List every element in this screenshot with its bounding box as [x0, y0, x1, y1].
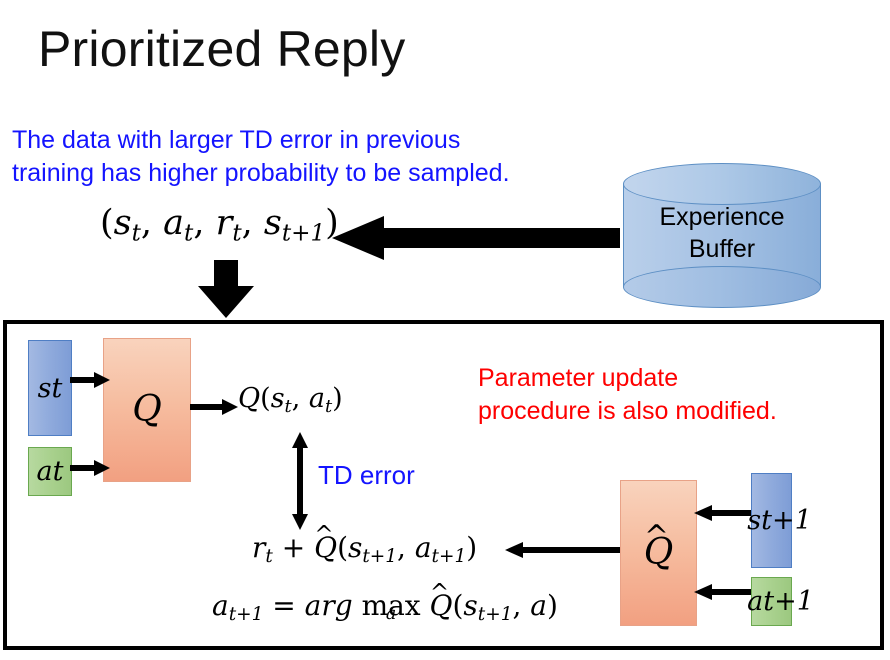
q-network-label: Q	[132, 392, 162, 428]
block-arrow-down-icon	[198, 260, 254, 318]
tuple-open-paren: (	[100, 203, 114, 243]
argmax-open-paren: (	[452, 589, 463, 622]
q-output-separator: ,	[292, 383, 309, 414]
tuple-action-subscript: t	[184, 220, 193, 246]
block-arrow-left-icon	[332, 216, 620, 260]
tuple-state-subscript: t	[132, 220, 141, 246]
q-output-state: s	[271, 383, 285, 414]
argmax-action: a	[212, 589, 229, 622]
state-input-label: st	[38, 375, 63, 402]
target-qhat-symbol: ^Q	[314, 534, 337, 562]
argmax-action-expression: at+1 = arg maxa ^Q(st+1, a)	[212, 592, 558, 625]
target-separator: ,	[397, 531, 415, 564]
target-next-action-subscript: t+1	[432, 546, 467, 567]
next-state-input-label: st+1	[747, 507, 812, 534]
red-note-text: Parameter update procedure is also modif…	[478, 362, 777, 428]
argmax-arg-keyword: arg	[305, 589, 353, 622]
next-action-input-label: at+1	[747, 588, 814, 615]
target-q-network-label: ^Q	[644, 535, 674, 571]
target-next-action: a	[415, 531, 432, 564]
target-next-state: s	[348, 531, 362, 564]
argmax-separator: ,	[512, 589, 530, 622]
tuple-comma-3: ,	[242, 203, 264, 243]
argmax-equals: =	[263, 589, 304, 622]
action-input-block: at	[28, 447, 72, 496]
target-plus-sign: +	[273, 531, 314, 564]
tuple-reward: r	[216, 203, 233, 243]
tuple-next-state: s	[264, 203, 282, 243]
target-next-state-subscript: t+1	[362, 546, 397, 567]
blue-note-text: The data with larger TD error in previou…	[12, 124, 510, 189]
td-target-expression: rt + ^Q(st+1, at+1)	[252, 534, 477, 567]
target-reward-subscript: t	[265, 546, 272, 567]
tuple-comma-1: ,	[141, 203, 163, 243]
argmax-free-action: a	[530, 589, 547, 622]
page-title: Prioritized Reply	[38, 22, 405, 77]
tuple-action: a	[163, 203, 184, 243]
state-input-block: st	[28, 340, 72, 436]
next-action-input-block: at+1	[751, 577, 792, 626]
argmax-close-paren: )	[547, 589, 558, 622]
action-input-label: at	[37, 458, 64, 485]
experience-buffer-cylinder: Experience Buffer	[623, 163, 823, 308]
next-state-input-block: st+1	[751, 473, 792, 568]
tuple-next-state-subscript: t+1	[282, 220, 325, 246]
tuple-state: s	[114, 203, 132, 243]
tuple-comma-2: ,	[193, 203, 215, 243]
cylinder-top-ellipse	[623, 163, 821, 205]
q-output-q: Q	[238, 383, 260, 414]
target-q-network-block: ^Q	[620, 480, 697, 626]
experience-buffer-label: Experience Buffer	[623, 201, 821, 265]
argmax-next-state-subscript: t+1	[478, 604, 513, 625]
target-close-paren: )	[466, 531, 477, 564]
q-value-output-expression: Q(st, at)	[238, 385, 343, 416]
target-open-paren: (	[337, 531, 348, 564]
argmax-action-subscript: t+1	[229, 604, 264, 625]
tuple-reward-subscript: t	[232, 220, 241, 246]
td-error-label: TD error	[318, 460, 415, 491]
q-output-close-paren: )	[332, 383, 343, 414]
target-reward: r	[252, 531, 265, 564]
q-network-block: Q	[103, 338, 191, 482]
q-output-state-subscript: t	[285, 396, 292, 417]
argmax-qhat-symbol: ^Q	[430, 592, 453, 620]
cylinder-bottom-ellipse	[623, 266, 821, 308]
q-output-action: a	[309, 383, 325, 414]
argmax-max-operator: maxa	[362, 592, 421, 620]
transition-tuple-expression: (st, at, rt, st+1)	[100, 206, 339, 246]
argmax-next-state: s	[463, 589, 477, 622]
q-output-open-paren: (	[260, 383, 271, 414]
